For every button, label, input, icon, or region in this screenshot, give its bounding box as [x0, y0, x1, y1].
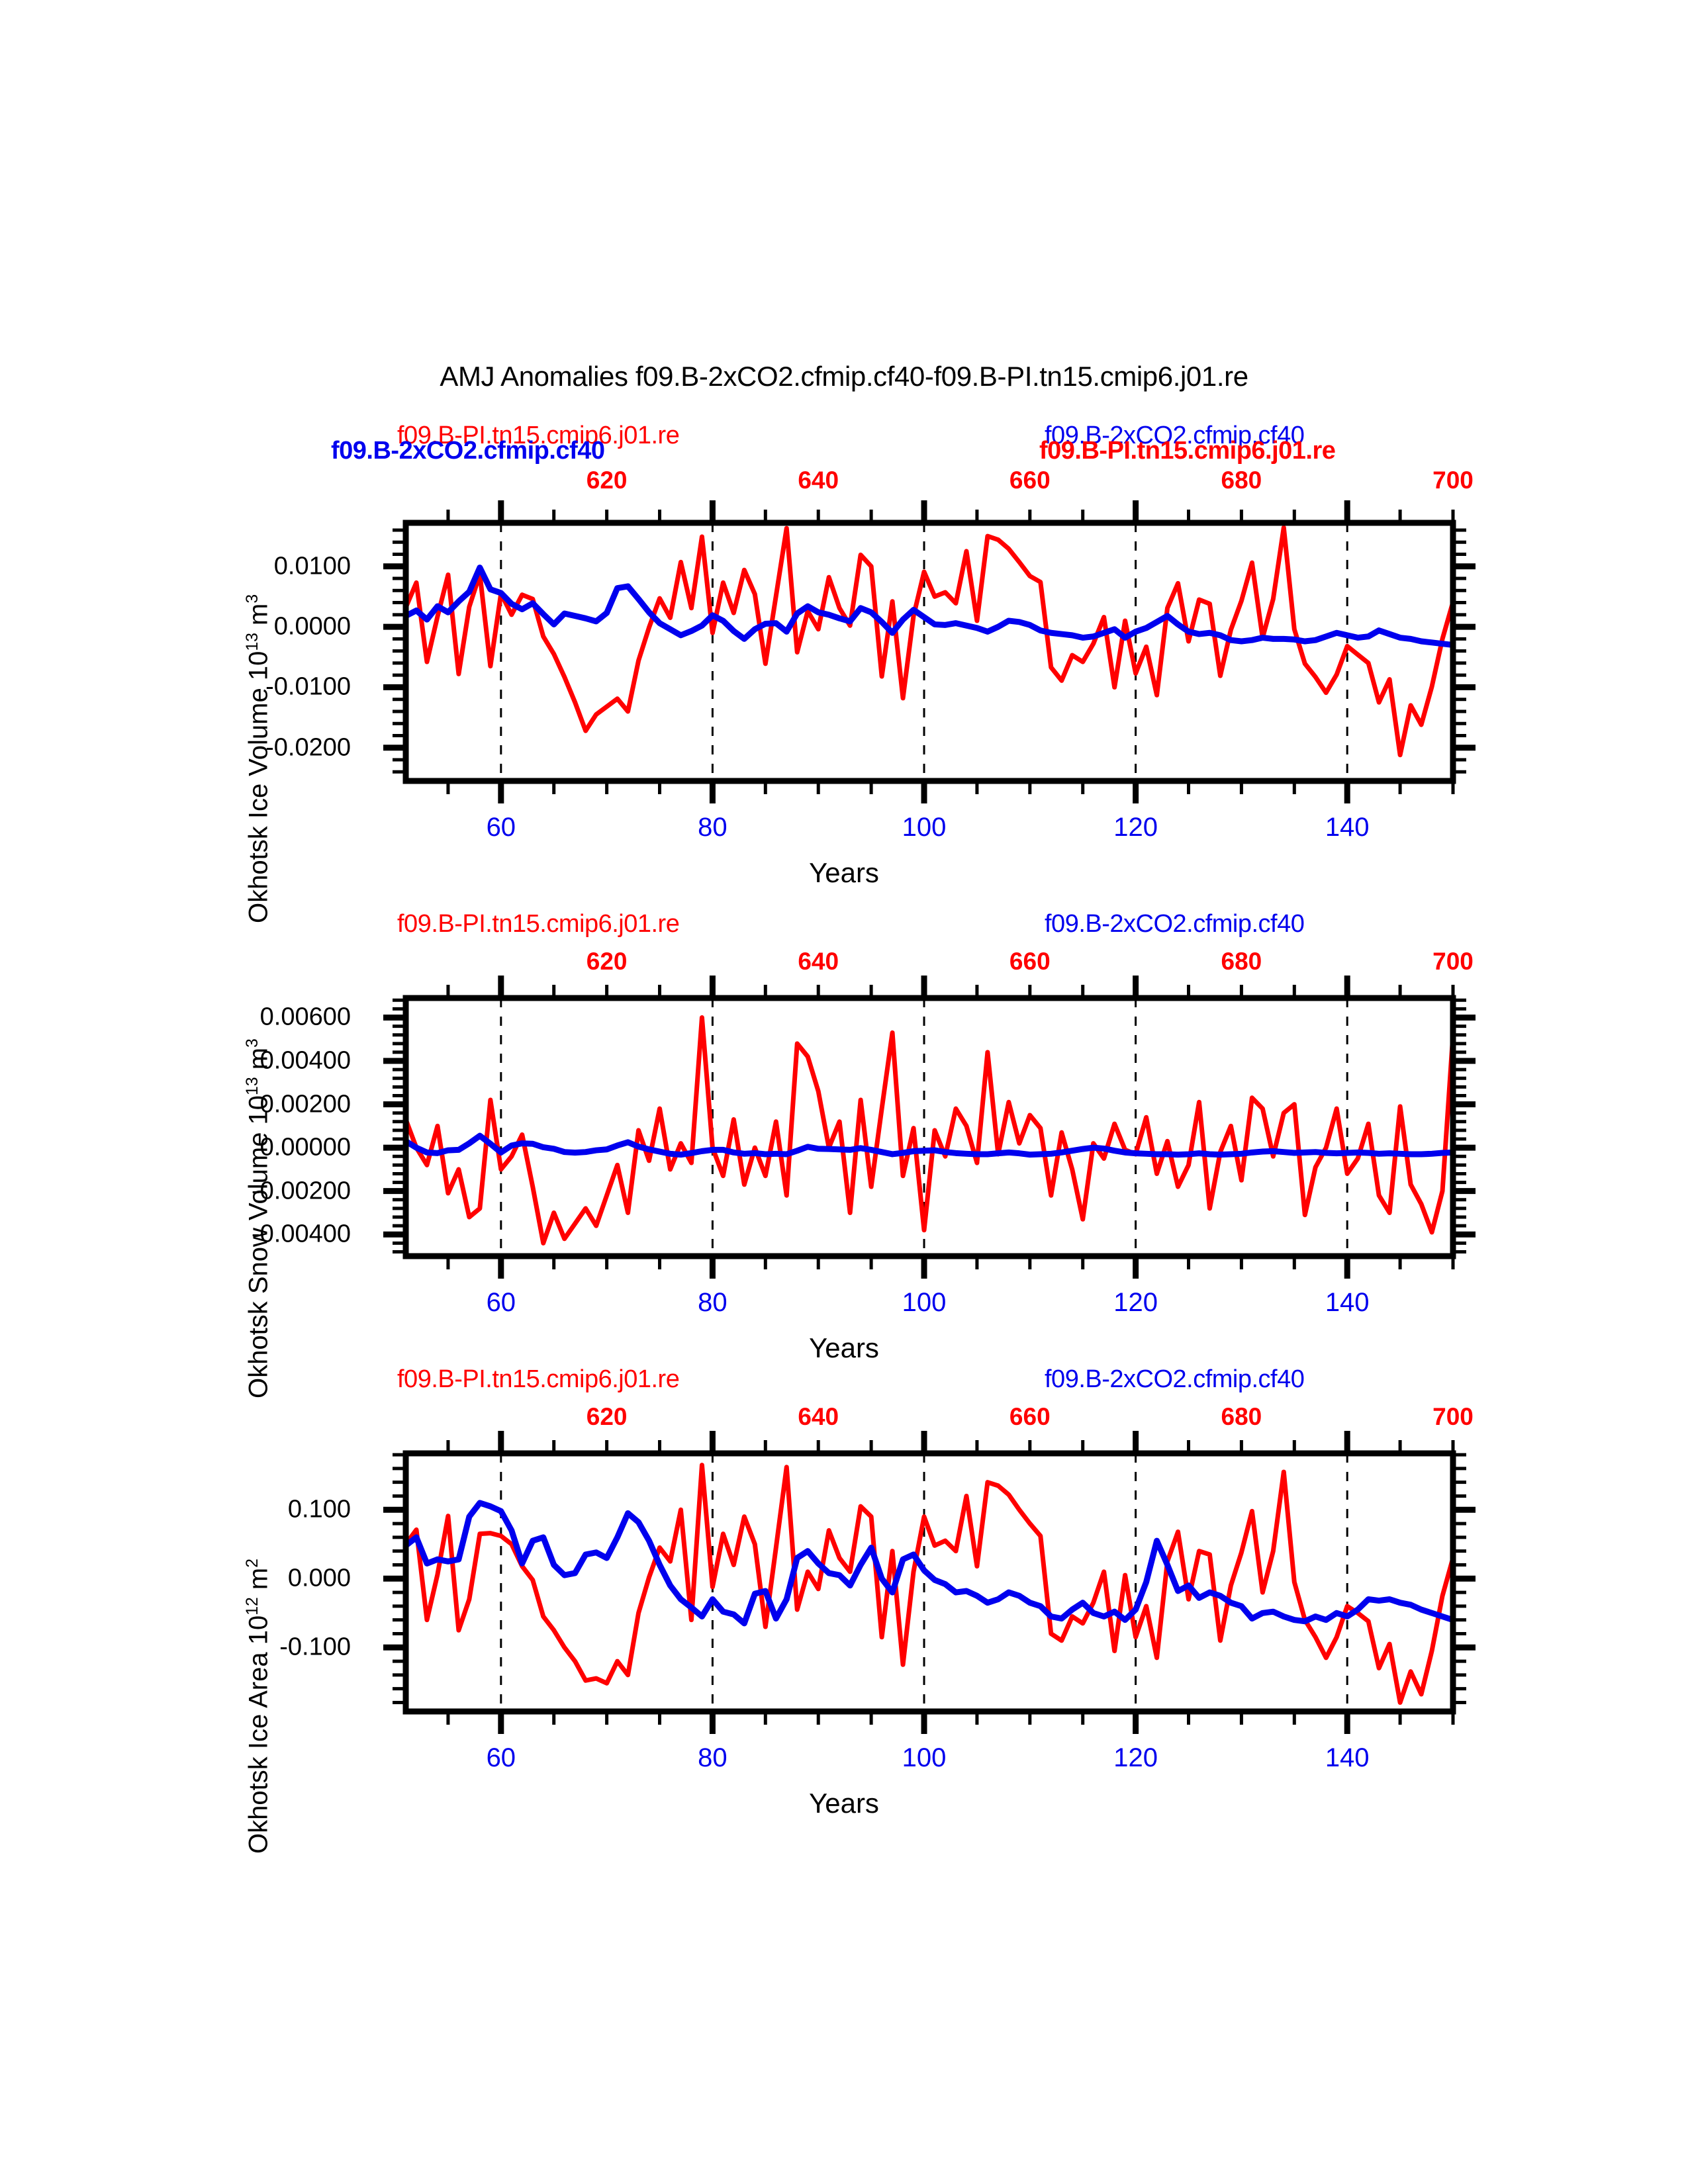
- y-tick-label: 0.000: [288, 1565, 351, 1593]
- series-label-left-red-p3: f09.B-PI.tn15.cmip6.j01.re: [397, 1365, 679, 1394]
- bottom-tick-label: 140: [1325, 1288, 1370, 1318]
- bottom-tick-label: 140: [1325, 813, 1370, 842]
- figure-root: AMJ Anomalies f09.B-2xCO2.cfmip.cf40-f09…: [0, 0, 1688, 2184]
- bottom-tick-label: 100: [902, 1288, 947, 1318]
- bottom-tick-label: 80: [698, 1743, 727, 1773]
- y-tick-label: 0.100: [288, 1496, 351, 1524]
- series-label-left-blue-p1: f09.B-2xCO2.cfmip.cf40: [331, 437, 605, 465]
- bottom-tick-label: 120: [1113, 1288, 1158, 1318]
- y-axis-labels-p3: 0.1000.000-0.100: [99, 0, 351, 2184]
- y-axis-title-unit-exponent: 2: [244, 1559, 261, 1568]
- series-label-left-red-p2: f09.B-PI.tn15.cmip6.j01.re: [397, 910, 679, 938]
- bottom-tick-label: 120: [1113, 813, 1158, 842]
- bottom-tick-label: 80: [698, 1288, 727, 1318]
- bottom-tick-label: 140: [1325, 1743, 1370, 1773]
- bottom-tick-label: 60: [487, 813, 516, 842]
- bottom-tick-label: 60: [487, 1288, 516, 1318]
- series-label-right-blue-p2: f09.B-2xCO2.cfmip.cf40: [1045, 910, 1304, 938]
- bottom-tick-label: 80: [698, 813, 727, 842]
- y-axis-title-exponent: 12: [244, 1597, 261, 1615]
- x-axis-title-p3: Years: [0, 1788, 1688, 1819]
- series-label-right-blue-p3: f09.B-2xCO2.cfmip.cf40: [1045, 1365, 1304, 1394]
- bottom-tick-label: 100: [902, 1743, 947, 1773]
- y-axis-title-unit: m: [244, 1568, 273, 1597]
- y-tick-label: -0.100: [279, 1633, 351, 1662]
- bottom-tick-label: 100: [902, 813, 947, 842]
- series-label-right-red-p1: f09.B-PI.tn15.cmip6.j01.re: [1039, 437, 1335, 465]
- bottom-tick-label: 60: [487, 1743, 516, 1773]
- bottom-tick-label: 120: [1113, 1743, 1158, 1773]
